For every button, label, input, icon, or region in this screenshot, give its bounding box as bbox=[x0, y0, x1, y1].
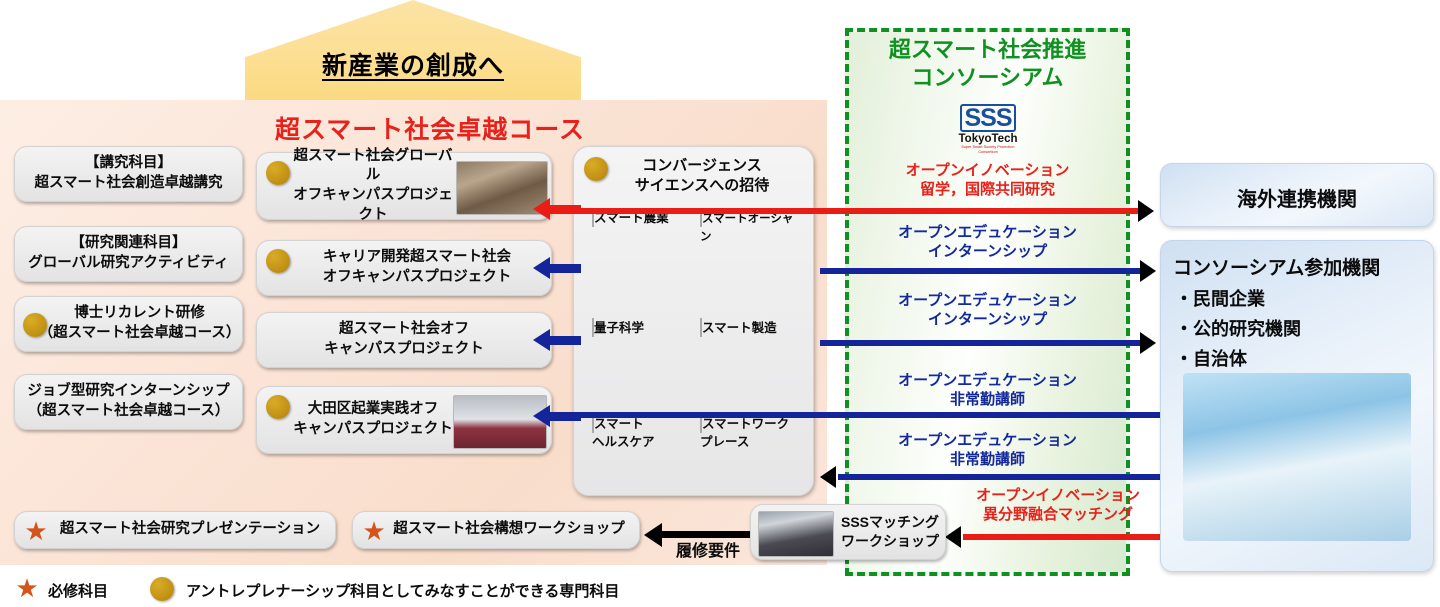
flow-label-2: オープンエデュケーション インターンシップ bbox=[848, 292, 1127, 330]
matching-workshop-photo bbox=[758, 511, 834, 557]
legend-dot-icon bbox=[150, 577, 174, 601]
course-title: 超スマート社会卓越コース bbox=[160, 110, 700, 146]
sss-logo-mark: SSS bbox=[960, 104, 1015, 132]
convergence-science-panel[interactable]: コンバージェンス サイエンスへの招待 スマート農業 スマートオーシャン 量子科学… bbox=[573, 146, 814, 496]
roof-title: 新産業の創成へ bbox=[245, 46, 581, 82]
middle-course-box-0[interactable]: 超スマート社会グローバル オフキャンパスプロジェクト bbox=[256, 152, 552, 220]
left-course-label-2: 博士リカレント研修 （超スマート社会卓越コース） bbox=[39, 304, 241, 343]
sss-tokyotech-logo: SSS TokyoTech Super Smart Society Promot… bbox=[958, 104, 1018, 154]
members-item-0: ・民間企業 bbox=[1175, 285, 1265, 311]
sss-matching-workshop-label: SSSマッチング ワークショップ bbox=[841, 513, 939, 551]
members-item-1: ・公的研究機関 bbox=[1175, 315, 1301, 341]
left-course-label-0: 【講究科目】 超スマート社会創造卓越講究 bbox=[34, 154, 222, 193]
convergence-caption-5: スマートワーク プレース bbox=[700, 417, 789, 449]
requirement-label: 履修要件 bbox=[664, 537, 752, 561]
required-star-icon: ★ bbox=[23, 518, 49, 544]
left-course-box-3[interactable]: ジョブ型研究インターンシップ （超スマート社会卓越コース） bbox=[14, 374, 243, 430]
middle-course-label-0: 超スマート社会グローバル オフキャンパスプロジェクト bbox=[291, 147, 455, 225]
flow-label-5: オープンイノベーション 異分野融合マッチング bbox=[948, 487, 1168, 525]
overseas-partners-panel[interactable]: 海外連携機関 bbox=[1160, 163, 1434, 227]
bottom-course-label-0: 超スマート社会研究プレゼンテーション bbox=[60, 520, 320, 540]
convergence-cell-5: スマートワーク プレース bbox=[700, 415, 794, 451]
convergence-cell-4: スマート ヘルスケア bbox=[592, 415, 686, 451]
middle-course-box-3[interactable]: 大田区起業実践オフ キャンパスプロジェクト bbox=[256, 386, 552, 454]
members-item-2: ・自治体 bbox=[1175, 345, 1247, 371]
consortium-members-panel[interactable]: コンソーシアム参加機関 ・民間企業 ・公的研究機関 ・自治体 bbox=[1160, 240, 1434, 572]
middle-course-box-2[interactable]: 超スマート社会オフ キャンパスプロジェクト bbox=[256, 312, 552, 368]
entrepreneurship-dot-icon bbox=[23, 313, 47, 337]
convergence-cell-1: スマートオーシャン bbox=[700, 209, 794, 245]
entrepreneurship-dot-icon bbox=[266, 395, 290, 419]
legend-dot-label: アントレプレナーシップ科目としてみなすことができる専門科目 bbox=[186, 580, 619, 601]
entrepreneurship-dot-icon bbox=[266, 161, 290, 185]
left-course-box-0[interactable]: 【講究科目】 超スマート社会創造卓越講究 bbox=[14, 146, 243, 202]
legend-star-label: 必修科目 bbox=[48, 580, 108, 601]
left-course-label-3: ジョブ型研究インターンシップ （超スマート社会卓越コース） bbox=[27, 382, 229, 421]
convergence-caption-3: スマート製造 bbox=[702, 321, 777, 335]
bottom-course-label-1: 超スマート社会構想ワークショップ bbox=[393, 520, 625, 540]
left-course-label-1: 【研究関連科目】 グローバル研究アクティビティ bbox=[28, 234, 228, 273]
convergence-cell-3: スマート製造 bbox=[700, 319, 794, 337]
left-course-box-1[interactable]: 【研究関連科目】 グローバル研究アクティビティ bbox=[14, 226, 243, 282]
convergence-cell-2: 量子科学 bbox=[592, 319, 686, 337]
consortium-title: 超スマート社会推進 コンソーシアム bbox=[848, 36, 1127, 91]
members-title: コンソーシアム参加機関 bbox=[1173, 253, 1380, 280]
flow-label-1: オープンエデュケーション インターンシップ bbox=[848, 224, 1127, 262]
middle-course-label-3: 大田区起業実践オフ キャンパスプロジェクト bbox=[293, 400, 453, 439]
legend: ★ 必修科目 アントレプレナーシップ科目としてみなすことができる専門科目 bbox=[14, 575, 714, 601]
legend-star-icon: ★ bbox=[14, 575, 40, 601]
left-course-box-2[interactable]: 博士リカレント研修 （超スマート社会卓越コース） bbox=[14, 296, 243, 352]
middle-course-label-1: キャリア開発超スマート社会 オフキャンパスプロジェクト bbox=[323, 248, 512, 287]
flow-label-0: オープンイノベーション 留学，国際共同研究 bbox=[848, 162, 1127, 200]
flow-label-4: オープンエデュケーション 非常勤講師 bbox=[848, 432, 1127, 470]
bottom-course-box-1[interactable]: ★ 超スマート社会構想ワークショップ bbox=[352, 511, 640, 549]
sss-matching-workshop-box[interactable]: SSSマッチング ワークショップ bbox=[750, 504, 946, 560]
sss-logo-tagline: Super Smart Society Promotion Consortium bbox=[958, 145, 1018, 155]
middle-course-box-1[interactable]: キャリア開発超スマート社会 オフキャンパスプロジェクト bbox=[256, 240, 552, 296]
bottom-course-box-0[interactable]: ★ 超スマート社会研究プレゼンテーション bbox=[14, 511, 336, 549]
overseas-partners-title: 海外連携機関 bbox=[1161, 183, 1433, 212]
convergence-caption-1: スマートオーシャン bbox=[700, 213, 793, 243]
flow-label-3: オープンエデュケーション 非常勤講師 bbox=[848, 372, 1127, 410]
required-star-icon: ★ bbox=[361, 518, 387, 544]
convergence-caption-2: 量子科学 bbox=[594, 321, 644, 335]
middle-course-label-2: 超スマート社会オフ キャンパスプロジェクト bbox=[324, 320, 484, 359]
convergence-title: コンバージェンス サイエンスへの招待 bbox=[598, 156, 806, 197]
sss-logo-name: TokyoTech bbox=[958, 133, 1018, 145]
entrepreneurship-dot-icon bbox=[266, 249, 290, 273]
convergence-caption-4: スマート ヘルスケア bbox=[592, 417, 655, 449]
global-network-people-illustration bbox=[1183, 373, 1411, 541]
